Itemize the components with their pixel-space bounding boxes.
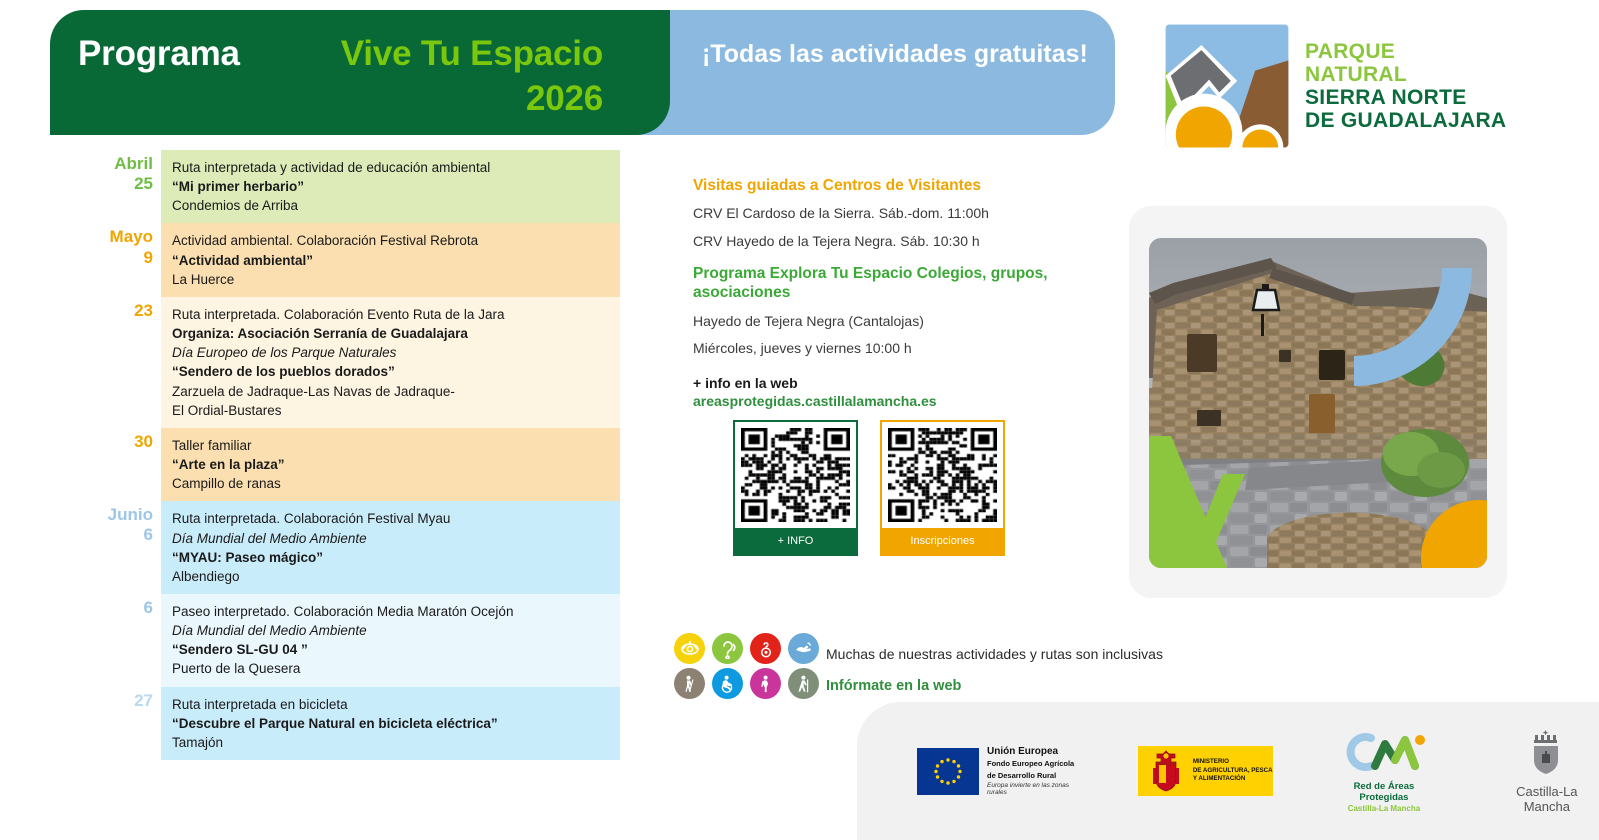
park-logo: PARQUE NATURAL SIERRA NORTE DE GUADALAJA… xyxy=(1163,22,1506,150)
spain-coat-of-arms-icon xyxy=(1144,748,1188,794)
schedule-row-month: Junio xyxy=(95,505,153,525)
schedule-row-date: Abril25 xyxy=(95,150,161,194)
cognitive-disability-icon xyxy=(750,633,781,664)
schedule-row-line: “Descubre el Parque Natural en bicicleta… xyxy=(172,714,612,733)
schedule-row-day: 25 xyxy=(95,174,153,194)
footer-logos-bar: Unión Europea Fondo Europeo Agrícola de … xyxy=(857,702,1599,840)
ministry-line-2: DE AGRICULTURA, PESCA xyxy=(1193,767,1273,775)
park-logo-mark-icon xyxy=(1163,22,1291,150)
schedule-row-line: Ruta interpretada y actividad de educaci… xyxy=(172,158,612,177)
qr-info-label: + INFO xyxy=(735,528,856,554)
schedule-row-body: Ruta interpretada. Colaboración Festival… xyxy=(161,501,620,594)
schedule-row-body: Paseo interpretado. Colaboración Media M… xyxy=(161,594,620,687)
qr-signup-label: Inscripciones xyxy=(882,528,1003,554)
schedule-row-day: 27 xyxy=(95,691,153,711)
qr-signup-image-wrap xyxy=(882,422,1003,528)
schedule-row-month: Mayo xyxy=(95,227,153,247)
schedule-row: 23Ruta interpretada. Colaboración Evento… xyxy=(95,297,620,428)
schedule-row-date: Mayo9 xyxy=(95,223,161,267)
park-logo-line-sierra-norte: SIERRA NORTE xyxy=(1305,86,1506,109)
accessibility-text: Muchas de nuestras actividades y rutas s… xyxy=(826,646,1246,694)
schedule-row: Abril25Ruta interpretada y actividad de … xyxy=(95,150,620,223)
schedule-row-date: 6 xyxy=(95,594,161,618)
schedule-row: 27Ruta interpretada en bicicleta“Descubr… xyxy=(95,687,620,760)
heading-visitas-guiadas: Visitas guiadas a Centros de Visitantes xyxy=(693,176,1093,195)
schedule-row-line: El Ordial-Bustares xyxy=(172,401,612,420)
schedule-row-line: Taller familiar xyxy=(172,436,612,455)
header-banner: Programa Vive Tu Espacio 2026 ¡Todas las… xyxy=(0,10,1130,135)
schedule-row-body: Ruta interpretada. Colaboración Evento R… xyxy=(161,297,620,428)
explora-line-1: Hayedo de Tejera Negra (Cantalojas) xyxy=(693,312,1093,330)
schedule-row-line: Organiza: Asociación Serranía de Guadala… xyxy=(172,324,612,343)
hearing-loop-icon xyxy=(712,633,743,664)
explora-line-2: Miércoles, jueves y viernes 10:00 h xyxy=(693,339,1093,357)
info-website-link[interactable]: areasprotegidas.castillalamancha.es xyxy=(693,393,1093,409)
schedule-row-line: “Actividad ambiental” xyxy=(172,251,612,270)
schedule-row: Junio6Ruta interpretada. Colaboración Fe… xyxy=(95,501,620,594)
schedule-row-day: 6 xyxy=(95,525,153,545)
heading-programa-explora: Programa Explora Tu Espacio Colegios, gr… xyxy=(693,264,1093,303)
schedule-row-line: Puerto de la Quesera xyxy=(172,659,612,678)
schedule-row-line: Albendiego xyxy=(172,567,612,586)
schedule-row-line: “Sendero de los pueblos dorados” xyxy=(172,362,612,381)
title-year: 2026 xyxy=(78,77,603,122)
schedule-row-day: 30 xyxy=(95,432,153,452)
schedule-row: 30Taller familiar“Arte en la plaza”Campi… xyxy=(95,428,620,501)
park-logo-line-natural: NATURAL xyxy=(1305,63,1506,86)
low-vision-icon xyxy=(674,633,705,664)
eu-flag-icon xyxy=(917,748,979,795)
visit-line-2: CRV Hayedo de la Tejera Negra. Sáb. 10:3… xyxy=(693,232,1093,250)
eu-logo-text: Unión Europea Fondo Europeo Agrícola de … xyxy=(987,746,1080,796)
qr-card-inscripciones[interactable]: Inscripciones xyxy=(880,420,1005,556)
schedule-row-date: 23 xyxy=(95,297,161,321)
schedule-row-body: Actividad ambiental. Colaboración Festiv… xyxy=(161,223,620,296)
castle-shield-icon xyxy=(1523,728,1571,776)
cma-line-2: Castilla-La Mancha xyxy=(1331,804,1436,813)
schedule-row-line: Actividad ambiental. Colaboración Festiv… xyxy=(172,231,612,250)
wheelchair-icon xyxy=(712,668,743,699)
ministry-line-3: Y ALIMENTACIÓN xyxy=(1193,775,1273,783)
header-subtitle: ¡Todas las actividades gratuitas! xyxy=(702,38,1092,70)
ministry-line-1: MINISTERIO xyxy=(1193,758,1273,766)
eu-line-3: Europa invierte en las zonas rurales xyxy=(987,782,1080,796)
cma-logo: Red de Áreas Protegidas Castilla-La Manc… xyxy=(1331,730,1436,813)
reduced-mobility-icon xyxy=(788,668,819,699)
accessibility-web-link[interactable]: Infórmate en la web xyxy=(826,678,1246,694)
schedule-row-line: La Huerce xyxy=(172,270,612,289)
info-column: Visitas guiadas a Centros de Visitantes … xyxy=(693,176,1093,409)
schedule-row-line: “Sendero SL-GU 04 ” xyxy=(172,640,612,659)
blind-cane-icon xyxy=(674,668,705,699)
schedule-list: Abril25Ruta interpretada y actividad de … xyxy=(95,150,620,760)
schedule-row-day: 9 xyxy=(95,248,153,268)
schedule-row-line: Condemios de Arriba xyxy=(172,196,612,215)
park-logo-line-parque: PARQUE xyxy=(1305,40,1506,63)
pregnancy-icon xyxy=(750,668,781,699)
schedule-row-line: Paseo interpretado. Colaboración Media M… xyxy=(172,602,612,621)
schedule-row-line: Ruta interpretada. Colaboración Festival… xyxy=(172,509,612,528)
schedule-row: 6Paseo interpretado. Colaboración Media … xyxy=(95,594,620,687)
schedule-row-line: Día Mundial del Medio Ambiente xyxy=(172,621,612,640)
schedule-row: Mayo9Actividad ambiental. Colaboración F… xyxy=(95,223,620,296)
schedule-row-month: Abril xyxy=(95,154,153,174)
sign-language-icon xyxy=(788,633,819,664)
clm-label: Castilla-La Mancha xyxy=(1495,784,1599,814)
ministry-logo: MINISTERIO DE AGRICULTURA, PESCA Y ALIME… xyxy=(1138,746,1273,796)
eu-line-1: Fondo Europeo Agrícola xyxy=(987,759,1080,768)
qr-info-image-wrap xyxy=(735,422,856,528)
castilla-la-mancha-logo: Castilla-La Mancha xyxy=(1495,728,1599,814)
schedule-row-line: “Arte en la plaza” xyxy=(172,455,612,474)
schedule-row-line: Zarzuela de Jadraque-Las Navas de Jadraq… xyxy=(172,382,612,401)
schedule-row-body: Ruta interpretada en bicicleta“Descubre … xyxy=(161,687,620,760)
ministry-text: MINISTERIO DE AGRICULTURA, PESCA Y ALIME… xyxy=(1193,758,1273,783)
schedule-row-body: Taller familiar“Arte en la plaza”Campill… xyxy=(161,428,620,501)
title-programa: Programa xyxy=(78,32,240,77)
village-photo xyxy=(1149,238,1487,568)
cma-mark-icon xyxy=(1341,730,1427,774)
schedule-row-date: 30 xyxy=(95,428,161,452)
eu-line-2: de Desarrollo Rural xyxy=(987,771,1080,780)
schedule-row-line: “MYAU: Paseo mágico” xyxy=(172,548,612,567)
schedule-row-date: Junio6 xyxy=(95,501,161,545)
footer-logo-row: Unión Europea Fondo Europeo Agrícola de … xyxy=(917,728,1599,814)
schedule-row-line: Campillo de ranas xyxy=(172,474,612,493)
schedule-row-line: Ruta interpretada. Colaboración Evento R… xyxy=(172,305,612,324)
schedule-row-line: Ruta interpretada en bicicleta xyxy=(172,695,612,714)
info-label: + info en la web xyxy=(693,375,1093,391)
cma-line-1: Red de Áreas Protegidas xyxy=(1331,781,1436,803)
page-title: Programa Vive Tu Espacio 2026 xyxy=(78,32,603,122)
schedule-row-body: Ruta interpretada y actividad de educaci… xyxy=(161,150,620,223)
schedule-row-line: Día Mundial del Medio Ambiente xyxy=(172,529,612,548)
title-vive-tu-espacio: Vive Tu Espacio xyxy=(341,34,603,73)
accessibility-icons xyxy=(674,633,822,699)
schedule-row-day: 6 xyxy=(95,598,153,618)
schedule-row-line: Día Europeo de los Parque Naturales xyxy=(172,343,612,362)
photo-card xyxy=(1129,206,1507,598)
qr-info-icon xyxy=(741,428,850,522)
visit-line-1: CRV El Cardoso de la Sierra. Sáb.-dom. 1… xyxy=(693,204,1093,222)
eu-logo: Unión Europea Fondo Europeo Agrícola de … xyxy=(917,746,1080,796)
qr-card-info[interactable]: + INFO xyxy=(733,420,858,556)
park-logo-line-guadalajara: DE GUADALAJARA xyxy=(1305,109,1506,132)
eu-title: Unión Europea xyxy=(987,746,1080,757)
schedule-row-date: 27 xyxy=(95,687,161,711)
schedule-row-day: 23 xyxy=(95,301,153,321)
schedule-row-line: Tamajón xyxy=(172,733,612,752)
park-logo-text: PARQUE NATURAL SIERRA NORTE DE GUADALAJA… xyxy=(1305,40,1506,132)
qr-code-group: + INFO Inscripciones xyxy=(733,420,1005,556)
schedule-row-line: “Mi primer herbario” xyxy=(172,177,612,196)
accessibility-line-1: Muchas de nuestras actividades y rutas s… xyxy=(826,646,1246,662)
qr-signup-icon xyxy=(888,428,997,522)
